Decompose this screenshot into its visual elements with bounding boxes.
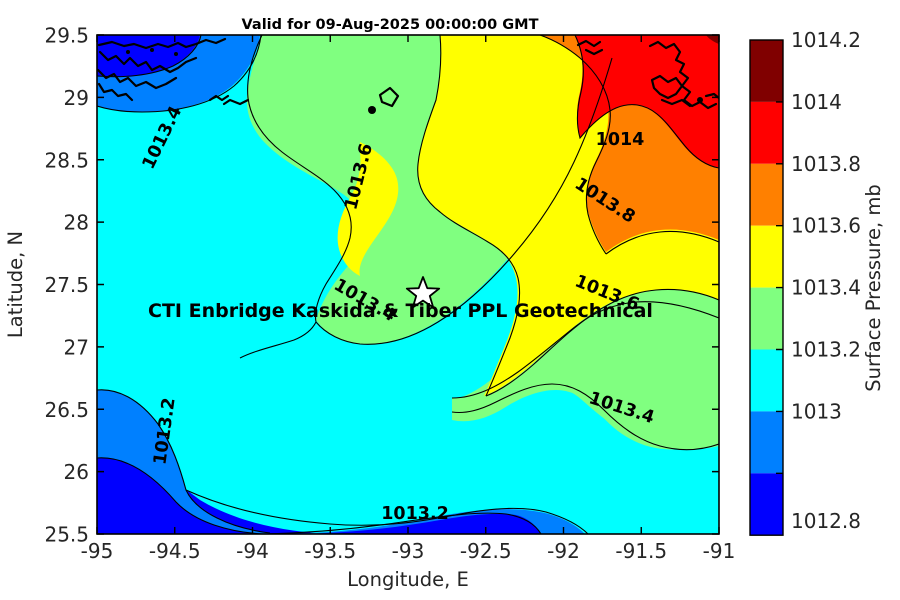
x-tick-label-4: -93 bbox=[392, 539, 425, 563]
colorbar-axis-label: Surface Pressure, mb bbox=[862, 184, 885, 392]
colorbar-swatch-1012p8 bbox=[750, 473, 783, 535]
coastline-island-b bbox=[150, 48, 154, 52]
colorbar-tick-label-0: 1014.2 bbox=[791, 28, 861, 52]
x-tick-label-7: -91.5 bbox=[615, 539, 667, 563]
y-tick-label-5: 28 bbox=[64, 211, 89, 235]
colorbar-tick-label-2: 1013.8 bbox=[791, 152, 861, 176]
coastline-island-ne bbox=[697, 97, 703, 103]
x-axis-label: Longitude, E bbox=[347, 568, 469, 591]
y-tick-label-0: 25.5 bbox=[44, 523, 89, 547]
coastline-island-a bbox=[126, 50, 130, 54]
y-tick-label-3: 27 bbox=[64, 335, 89, 359]
x-tick-label-6: -92 bbox=[547, 539, 580, 563]
x-tick-labels: -95 -94.5 -94 -93.5 -93 -92.5 -92 -91.5 … bbox=[81, 539, 736, 563]
y-tick-label-2: 26.5 bbox=[44, 398, 89, 422]
coastline-island-center2 bbox=[368, 106, 376, 114]
contour-map-figure: 1013.4 1013.6 1014 1013.8 1013.4 1013.6 … bbox=[0, 0, 900, 600]
plot-area: 1013.4 1013.6 1014 1013.8 1013.4 1013.6 … bbox=[97, 35, 719, 534]
x-tick-label-3: -93.5 bbox=[304, 539, 356, 563]
x-tick-label-2: -94 bbox=[236, 539, 269, 563]
y-tick-label-8: 29.5 bbox=[44, 24, 89, 48]
y-tick-label-4: 27.5 bbox=[44, 273, 89, 297]
filled-contour-bands bbox=[97, 35, 719, 534]
colorbar-tick-label-1: 1014 bbox=[791, 90, 842, 114]
colorbar-tick-label-7: 1012.8 bbox=[791, 509, 861, 533]
colorbar-swatch-1014p2 bbox=[750, 40, 783, 102]
colorbar-swatch-1013p2 bbox=[750, 350, 783, 412]
colorbar-tick-label-4: 1013.4 bbox=[791, 276, 861, 300]
colorbar-tick-label-5: 1013.2 bbox=[791, 338, 861, 362]
colorbar-swatch-1013p4 bbox=[750, 288, 783, 350]
colorbar-swatch-1013p0 bbox=[750, 411, 783, 473]
x-tick-label-5: -92.5 bbox=[460, 539, 512, 563]
y-tick-label-6: 28.5 bbox=[44, 148, 89, 172]
site-annotation-label: CTI Enbridge Kaskida & Tiber PPL Geotech… bbox=[148, 300, 653, 322]
colorbar-tick-label-3: 1013.6 bbox=[791, 214, 861, 238]
x-tick-label-8: -91 bbox=[703, 539, 736, 563]
colorbar-swatch-1013p6 bbox=[750, 226, 783, 288]
contour-label-s-1013p2: 1013.2 bbox=[381, 504, 449, 524]
y-axis-label: Latitude, N bbox=[4, 231, 27, 338]
x-tick-label-1: -94.5 bbox=[149, 539, 201, 563]
y-tick-label-1: 26 bbox=[64, 460, 89, 484]
coastline-island-c bbox=[174, 52, 178, 56]
contour-label-ne-1014: 1014 bbox=[596, 130, 645, 150]
colorbar-swatch-1014p0 bbox=[750, 102, 783, 164]
page-title: Valid for 09-Aug-2025 00:00:00 GMT bbox=[242, 17, 539, 33]
y-tick-label-7: 29 bbox=[64, 86, 89, 110]
colorbar-swatch-1013p8 bbox=[750, 164, 783, 226]
colorbar-tick-label-6: 1013 bbox=[791, 399, 842, 423]
